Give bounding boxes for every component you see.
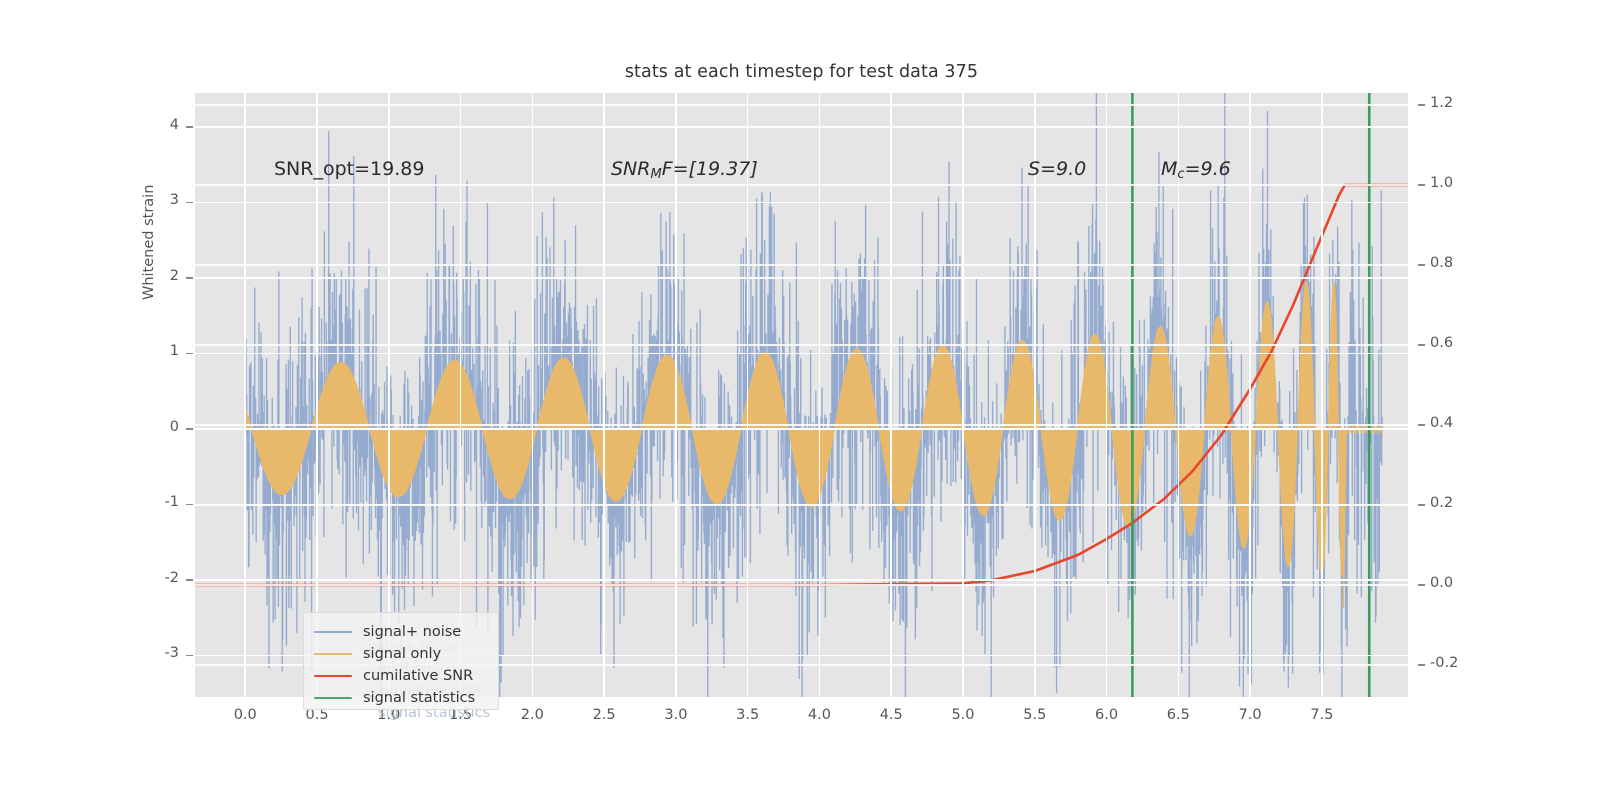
x-tick-label: 3.0 xyxy=(646,707,706,723)
legend-item-label: signal only xyxy=(363,646,441,662)
legend-item[interactable]: cumilative SNR xyxy=(314,665,498,687)
gridline-horizontal-right xyxy=(195,264,1408,266)
gridline-horizontal-right xyxy=(195,184,1408,186)
x-tick-label: 7.0 xyxy=(1220,707,1280,723)
legend-item-label: signal+ noise xyxy=(363,624,461,640)
x-tick-label: 2.0 xyxy=(502,707,562,723)
y-tick-label-left: 3 xyxy=(133,192,179,208)
y-tick-mark-right xyxy=(1418,104,1425,106)
gridline-horizontal xyxy=(195,579,1408,581)
y-tick-label-right: 1.2 xyxy=(1430,95,1490,111)
y-tick-mark-left xyxy=(186,428,193,430)
x-tick-label: 0.0 xyxy=(215,707,275,723)
gridline-horizontal-right xyxy=(195,584,1408,586)
legend-item-label: signal statistics xyxy=(363,690,475,706)
y-tick-mark-left xyxy=(186,655,193,657)
y-tick-mark-left xyxy=(186,353,193,355)
y-tick-label-left: -3 xyxy=(133,645,179,661)
y-tick-label-right: 0.0 xyxy=(1430,575,1490,591)
y-tick-mark-right xyxy=(1418,504,1425,506)
legend-color-swatch xyxy=(314,653,352,656)
legend-item[interactable]: signal only xyxy=(314,643,498,665)
y-tick-mark-left xyxy=(186,202,193,204)
legend-item[interactable]: signal statistics xyxy=(314,687,498,709)
x-tick-label: 4.0 xyxy=(789,707,849,723)
x-tick-label: 7.5 xyxy=(1292,707,1352,723)
y-tick-label-right: -0.2 xyxy=(1430,655,1490,671)
y-tick-mark-right xyxy=(1418,584,1425,586)
x-tick-label: 6.5 xyxy=(1148,707,1208,723)
legend-color-swatch xyxy=(314,697,352,700)
y-tick-label-left: 2 xyxy=(133,268,179,284)
y-tick-label-right: 0.6 xyxy=(1430,335,1490,351)
y-tick-label-right: 1.0 xyxy=(1430,175,1490,191)
x-tick-label: 5.0 xyxy=(933,707,993,723)
legend-item[interactable]: signal+ noise xyxy=(314,621,498,643)
x-tick-label: 4.5 xyxy=(861,707,921,723)
gridline-horizontal-right xyxy=(195,504,1408,506)
y-tick-label-left: 1 xyxy=(133,343,179,359)
gridline-horizontal xyxy=(195,126,1408,128)
chart-title: stats at each timestep for test data 375 xyxy=(195,62,1408,82)
legend-item-label: cumilative SNR xyxy=(363,668,473,684)
y-tick-mark-right xyxy=(1418,264,1425,266)
y-tick-mark-right xyxy=(1418,184,1425,186)
gridline-horizontal-right xyxy=(195,344,1408,346)
gridline-horizontal-right xyxy=(195,104,1408,106)
y-tick-mark-left xyxy=(186,126,193,128)
annotation-snr-opt: SNR_opt=19.89 xyxy=(274,158,424,180)
y-tick-label-left: 0 xyxy=(133,419,179,435)
y-tick-mark-left xyxy=(186,277,193,279)
gridline-horizontal xyxy=(195,428,1408,430)
y-tick-label-left: 4 xyxy=(133,117,179,133)
y-tick-label-left: -1 xyxy=(133,494,179,510)
legend-color-swatch xyxy=(314,675,352,678)
gridline-horizontal xyxy=(195,277,1408,279)
y-tick-label-right: 0.8 xyxy=(1430,255,1490,271)
y-tick-mark-right xyxy=(1418,424,1425,426)
annotation-s-stat: S=9.0 xyxy=(1028,158,1086,180)
x-tick-label: 2.5 xyxy=(574,707,634,723)
gridline-horizontal xyxy=(195,202,1408,204)
y-tick-label-right: 0.2 xyxy=(1430,495,1490,511)
gridline-horizontal-right xyxy=(195,424,1408,426)
x-tick-label: 6.0 xyxy=(1077,707,1137,723)
plot-axes-area xyxy=(195,93,1408,697)
annotation-snr-mf: SNRMF=[19.37] xyxy=(611,158,758,182)
y-tick-label-right: 0.4 xyxy=(1430,415,1490,431)
figure-canvas: stats at each timestep for test data 375… xyxy=(0,0,1600,800)
y-tick-label-left: -2 xyxy=(133,570,179,586)
chart-legend[interactable]: signal+ noisesignal onlycumilative SNRsi… xyxy=(303,612,499,710)
y-tick-mark-right xyxy=(1418,344,1425,346)
y-tick-mark-right xyxy=(1418,664,1425,666)
y-tick-mark-left xyxy=(186,504,193,506)
annotation-chirp-mass: Mc=9.6 xyxy=(1161,158,1231,182)
x-tick-label: 3.5 xyxy=(718,707,778,723)
gridline-horizontal xyxy=(195,353,1408,355)
legend-color-swatch xyxy=(314,631,352,634)
y-tick-mark-left xyxy=(186,579,193,581)
x-tick-label: 5.5 xyxy=(1005,707,1065,723)
